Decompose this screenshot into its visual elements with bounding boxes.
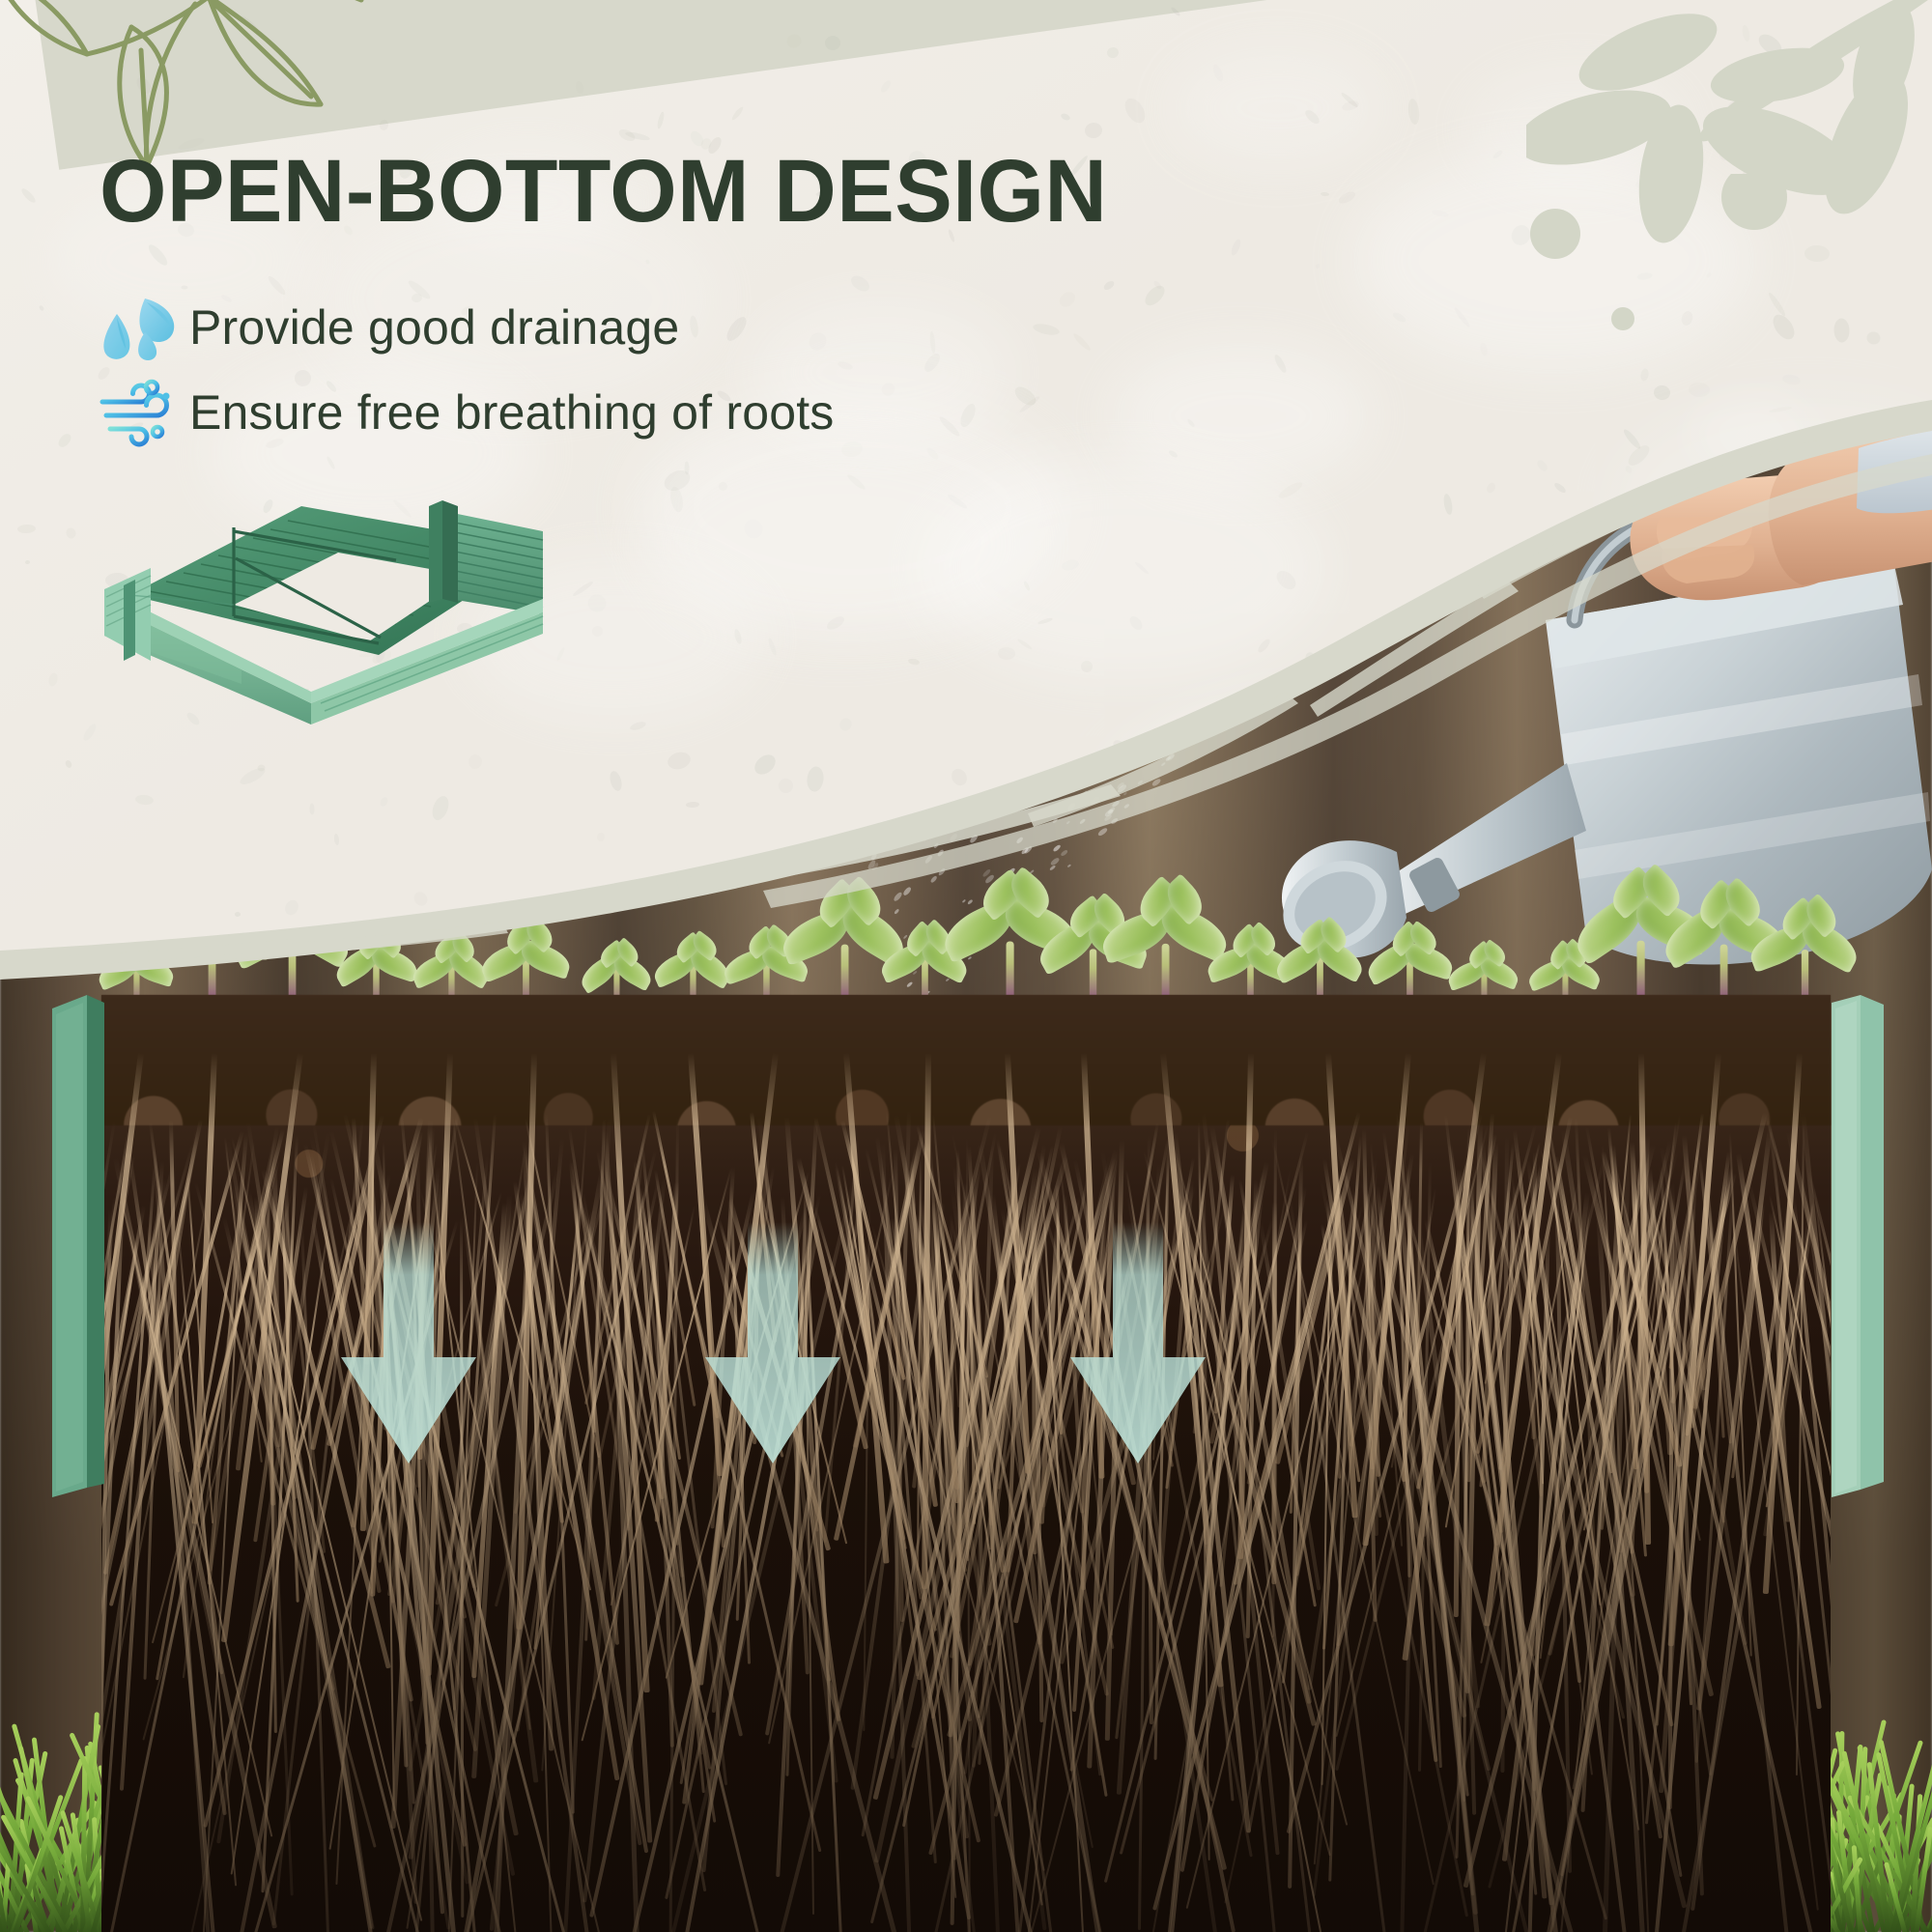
infographic-canvas: OPEN-BOTTOM DESIGN [0,0,1932,1932]
downward-drainage-arrow [331,1222,486,1473]
planter-post-right [1828,995,1886,1497]
downward-drainage-arrow [696,1222,850,1473]
water-droplets-icon [97,293,189,362]
page-title: OPEN-BOTTOM DESIGN [99,147,1107,236]
planter-post-left [48,995,108,1497]
list-item: Ensure free breathing of roots [97,375,835,450]
list-item-label: Ensure free breathing of roots [189,384,835,440]
downward-drainage-arrow [1061,1222,1215,1473]
list-item-label: Provide good drainage [189,299,679,355]
wind-breeze-icon [97,378,189,447]
product-image-raised-garden-bed [89,413,572,732]
list-item: Provide good drainage [97,290,835,365]
feature-list: Provide good drainage [97,290,835,460]
